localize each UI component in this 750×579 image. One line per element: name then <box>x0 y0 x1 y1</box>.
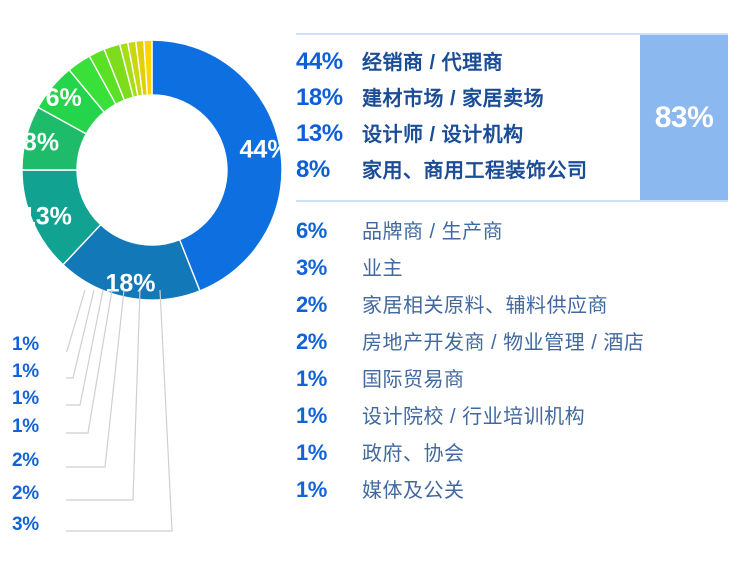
legend-bottom-row[interactable]: 1%媒体及公关 <box>296 474 728 511</box>
legend-bottom-label: 媒体及公关 <box>362 474 465 503</box>
legend-bottom-percent: 2% <box>296 329 362 355</box>
leader-percent-label: 1% <box>12 388 64 410</box>
legend-bottom-label: 国际贸易商 <box>362 363 465 392</box>
legend-top-percent: 13% <box>296 120 362 148</box>
legend-bottom-percent: 3% <box>296 255 362 281</box>
leader-line <box>66 290 103 405</box>
leader-line <box>66 290 94 378</box>
legend-bottom-row[interactable]: 2%家居相关原料、辅料供应商 <box>296 289 728 326</box>
legend-bottom-percent: 2% <box>296 292 362 318</box>
legend-bottom-rows: 6%品牌商 / 生产商3%业主2%家居相关原料、辅料供应商2%房地产开发商 / … <box>296 215 728 511</box>
donut-svg: 44%18%13%8%6% <box>0 0 300 320</box>
leader-line <box>66 290 140 500</box>
highlight-badge: 83% <box>640 35 728 200</box>
legend-bottom-percent: 1% <box>296 440 362 466</box>
donut-slice-label: 13% <box>22 203 72 231</box>
legend-bottom-row[interactable]: 3%业主 <box>296 252 728 289</box>
legend-top-percent: 18% <box>296 84 362 112</box>
legend-bottom-row[interactable]: 6%品牌商 / 生产商 <box>296 215 728 252</box>
leader-percent-label: 1% <box>12 416 64 438</box>
legend-top-percent: 44% <box>296 48 362 76</box>
legend-top-label: 建材市场 / 家居卖场 <box>362 82 544 111</box>
legend-bottom-percent: 1% <box>296 366 362 392</box>
legend-bottom-label: 业主 <box>362 252 403 281</box>
legend-bottom-label: 设计院校 / 行业培训机构 <box>362 400 585 429</box>
donut-chart: 44%18%13%8%6% <box>0 0 300 320</box>
leader-percent-label: 3% <box>12 514 64 536</box>
legend-bottom-label: 房地产开发商 / 物业管理 / 酒店 <box>362 326 644 355</box>
legend-top-label: 设计师 / 设计机构 <box>362 118 524 147</box>
leader-line <box>66 290 124 467</box>
leader-line <box>66 290 172 531</box>
legend-bottom-label: 品牌商 / 生产商 <box>362 215 503 244</box>
donut-slice-label: 44% <box>240 136 290 164</box>
legend-bottom-label: 政府、协会 <box>362 437 465 466</box>
legend-bottom-percent: 6% <box>296 218 362 244</box>
legend-bottom-row[interactable]: 2%房地产开发商 / 物业管理 / 酒店 <box>296 326 728 363</box>
infographic-root: 44%18%13%8%6% 1%1%1%1%2%2%3% 44%经销商 / 代理… <box>0 0 750 579</box>
legend-bottom-row[interactable]: 1%国际贸易商 <box>296 363 728 400</box>
donut-slice-label: 8% <box>23 129 59 157</box>
legend-top-panel: 44%经销商 / 代理商18%建材市场 / 家居卖场13%设计师 / 设计机构8… <box>296 33 728 202</box>
legend-top-label: 经销商 / 代理商 <box>362 46 503 75</box>
leader-percent-label: 1% <box>12 334 64 356</box>
leader-percent-label: 2% <box>12 483 64 505</box>
donut-slice-label: 6% <box>46 84 82 112</box>
legend-top-label: 家用、商用工程装饰公司 <box>362 154 588 183</box>
legend-top-percent: 8% <box>296 156 362 184</box>
leader-percent-label: 1% <box>12 361 64 383</box>
legend-bottom-label: 家居相关原料、辅料供应商 <box>362 289 608 318</box>
legend-bottom-percent: 1% <box>296 403 362 429</box>
legend-bottom-row[interactable]: 1%政府、协会 <box>296 437 728 474</box>
legend-bottom-percent: 1% <box>296 477 362 503</box>
legend-bottom-row[interactable]: 1%设计院校 / 行业培训机构 <box>296 400 728 437</box>
legend: 44%经销商 / 代理商18%建材市场 / 家居卖场13%设计师 / 设计机构8… <box>296 33 728 511</box>
leader-percent-label: 2% <box>12 450 64 472</box>
badge-value: 83% <box>655 101 714 135</box>
legend-bottom-panel: 6%品牌商 / 生产商3%业主2%家居相关原料、辅料供应商2%房地产开发商 / … <box>296 202 728 511</box>
